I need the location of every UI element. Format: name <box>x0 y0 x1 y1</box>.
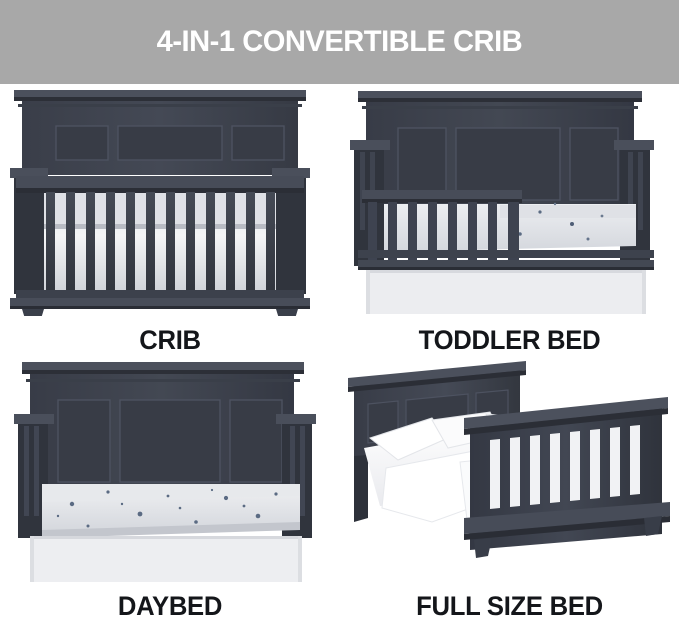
crib-top-rail <box>16 176 304 193</box>
crib-feet <box>22 309 298 316</box>
daybed-headboard <box>22 362 304 486</box>
caption-full-size-bed: FULL SIZE BED <box>348 593 670 620</box>
product-view-daybed: DAYBED <box>0 356 340 624</box>
crib-illustration <box>0 84 340 316</box>
daybed-bed-skirt <box>30 536 302 582</box>
toddler-headboard <box>358 91 642 204</box>
toddler-bed-skirt <box>366 270 646 314</box>
product-view-grid: CRIB <box>0 84 679 624</box>
caption-daybed: DAYBED <box>9 593 332 620</box>
header-banner: 4-IN-1 CONVERTIBLE CRIB <box>0 0 679 84</box>
product-view-full-size-bed: FULL SIZE BED <box>340 356 679 624</box>
caption-toddler-bed: TODDLER BED <box>348 327 670 354</box>
product-view-crib: CRIB <box>0 84 340 356</box>
daybed-illustration <box>0 356 340 584</box>
daybed-mattress <box>42 484 300 538</box>
caption-crib: CRIB <box>9 327 332 354</box>
product-infographic: 4-IN-1 CONVERTIBLE CRIB <box>0 0 679 624</box>
toddler-bed-illustration <box>340 84 679 316</box>
full-size-bed-illustration <box>340 356 679 584</box>
page-title: 4-IN-1 CONVERTIBLE CRIB <box>157 27 523 57</box>
full-bed-footboard <box>464 397 670 558</box>
product-view-toddler-bed: TODDLER BED <box>340 84 679 356</box>
crib-base <box>10 290 310 309</box>
crib-headboard <box>14 90 306 175</box>
toddler-lower-rail <box>358 250 654 270</box>
